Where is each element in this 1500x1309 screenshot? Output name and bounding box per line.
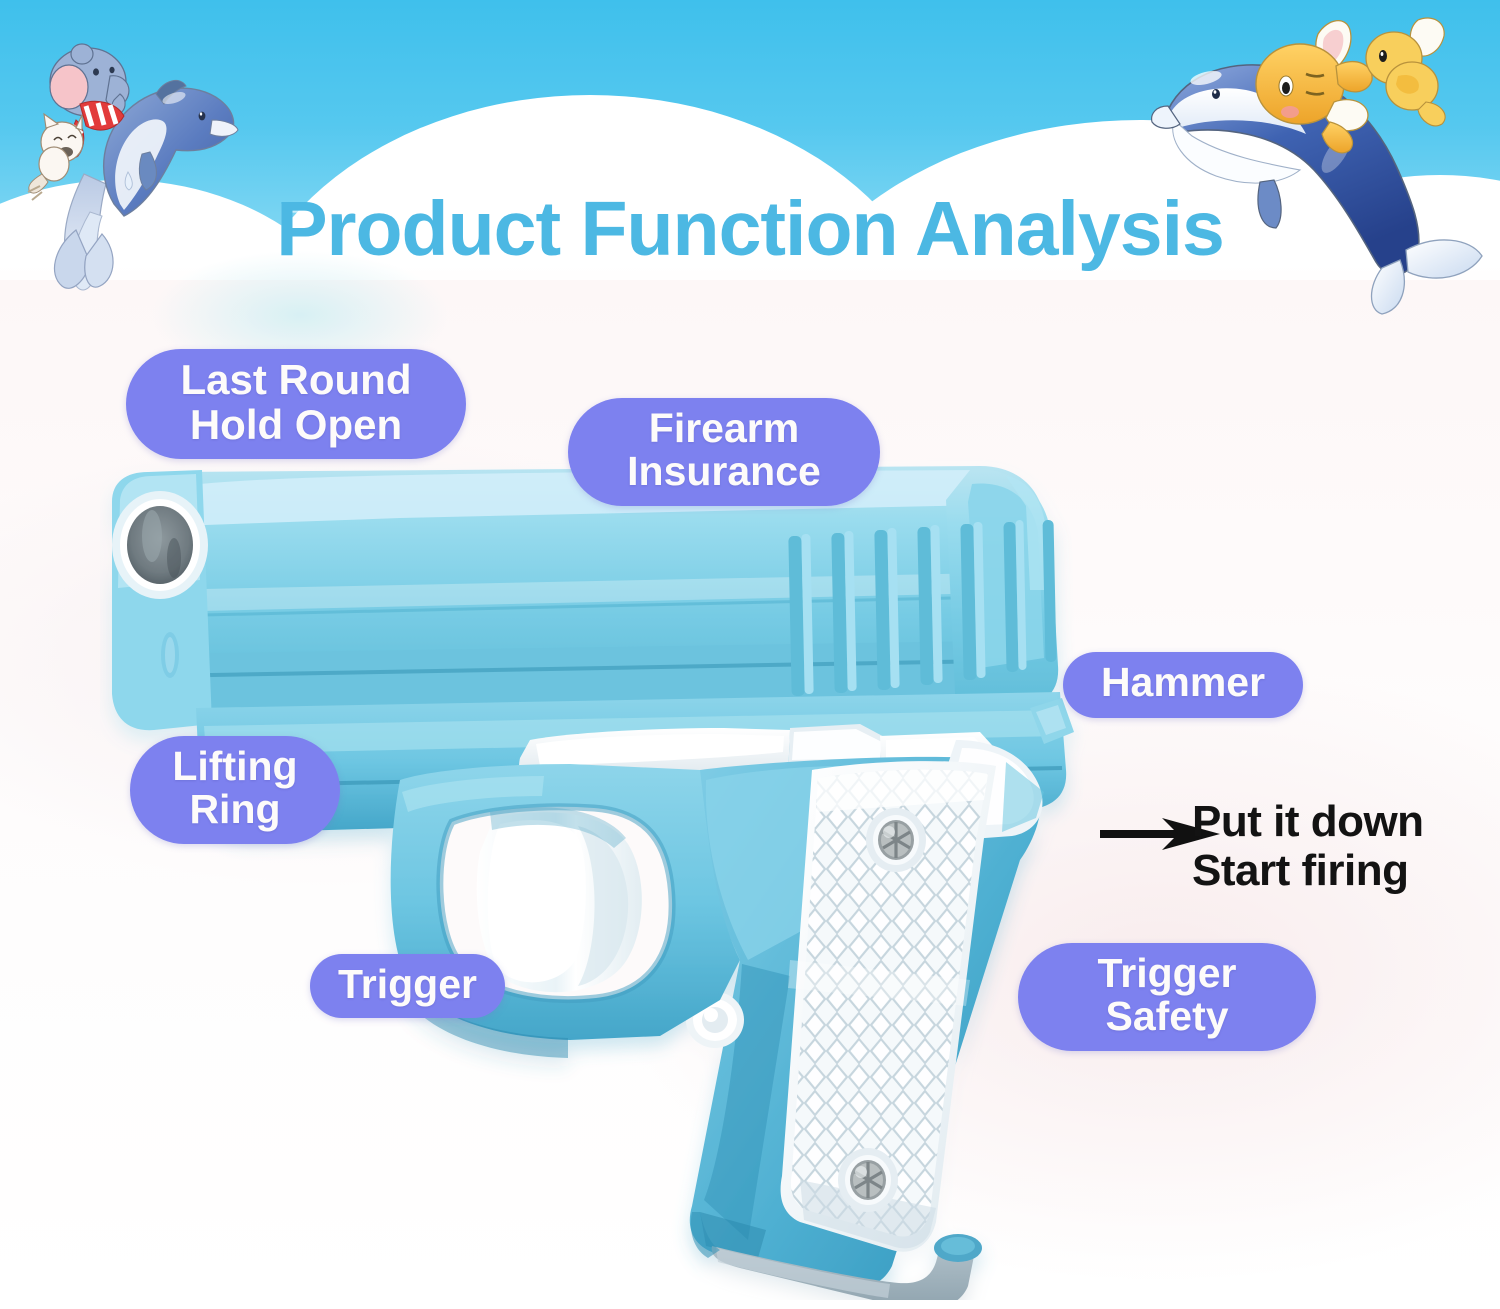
infographic-canvas: Product Function Analysis	[0, 0, 1500, 1309]
dolphin-with-elephant-and-cat-icon	[24, 24, 239, 294]
callout-put-it-down-start-firing: Put it down Start firing	[1192, 797, 1424, 896]
label-trigger-safety: Trigger Safety	[1018, 943, 1316, 1051]
label-hammer: Hammer	[1063, 652, 1303, 718]
dolphin-with-bunny-and-chick-icon	[1150, 14, 1495, 324]
label-lifting-ring: Lifting Ring	[130, 736, 340, 844]
label-last-round-hold-open: Last Round Hold Open	[126, 349, 466, 459]
toy-pistol-image	[100, 440, 1130, 1300]
label-firearm-insurance: Firearm Insurance	[568, 398, 880, 506]
label-trigger: Trigger	[310, 954, 505, 1018]
